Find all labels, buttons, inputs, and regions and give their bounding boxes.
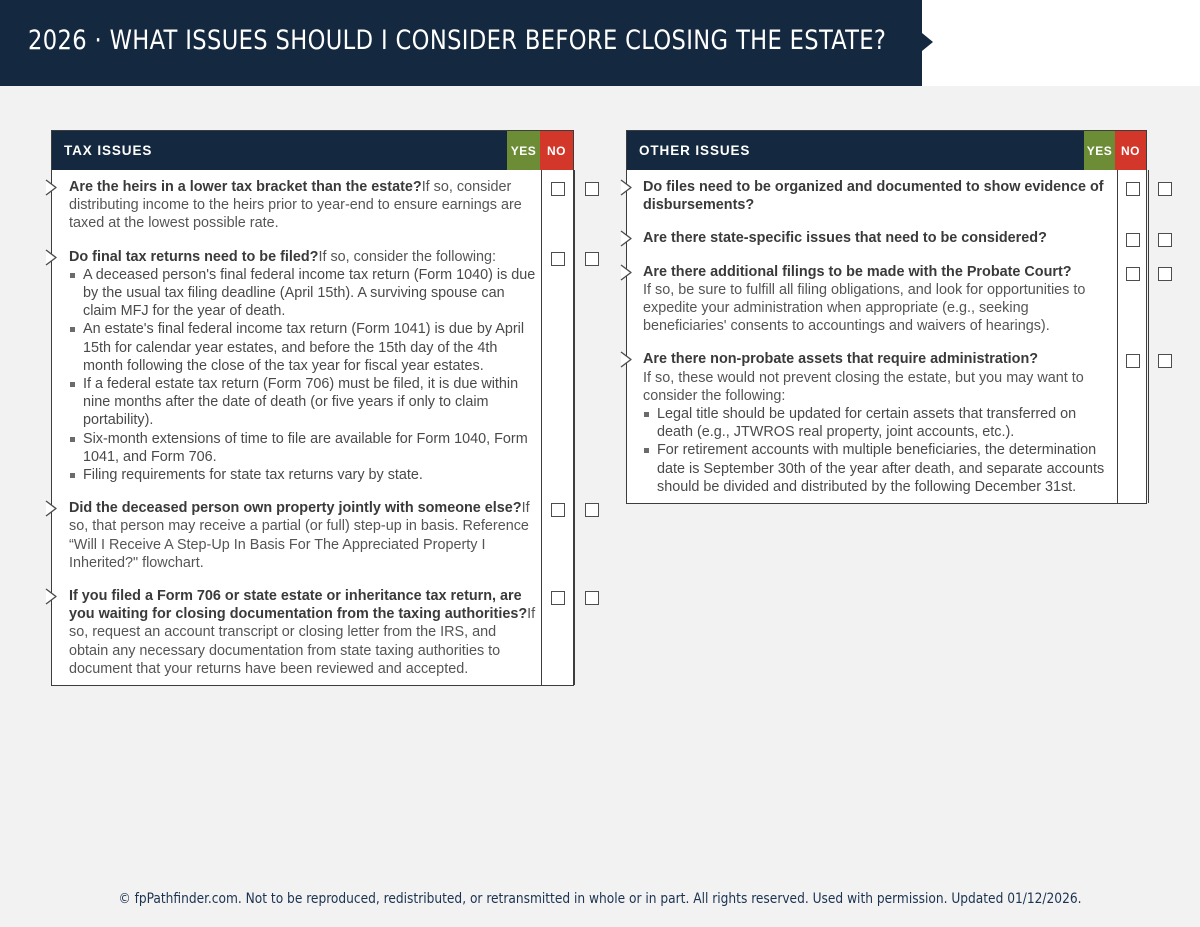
tax-issues-table: TAX ISSUES YES NO Are the heirs in a low… [51,130,574,686]
chevron-right-icon [620,179,633,196]
no-checkbox[interactable] [585,591,599,605]
row-content: If you filed a Form 706 or state estate … [52,579,542,685]
row-question: If you filed a Form 706 or state estate … [69,588,527,622]
no-checkbox[interactable] [585,503,599,517]
yes-checkbox[interactable] [1126,354,1140,368]
tax-table-header: TAX ISSUES YES NO [52,131,573,170]
no-checkbox[interactable] [1158,354,1172,368]
header-arrow-icon [922,33,933,51]
list-item: Six-month extensions of time to file are… [69,430,539,466]
yes-checkbox[interactable] [1126,182,1140,196]
no-checkbox-cell [1149,221,1180,254]
chevron-right-icon [45,179,58,196]
no-checkbox-cell [1149,170,1180,221]
no-checkbox-cell [575,240,608,492]
row-content: Are there non-probate assets that requir… [627,342,1118,503]
no-checkbox-cell [1149,255,1180,343]
footer-text: © fpPathfinder.com. Not to be reproduced… [118,891,1081,907]
yes-checkbox[interactable] [551,182,565,196]
list-item: Legal title should be updated for certai… [643,405,1115,441]
chevron-right-icon [45,588,58,605]
tax-table-title: TAX ISSUES [52,131,507,170]
yes-checkbox-cell [1118,221,1149,254]
row-question: Are there additional filings to be made … [643,264,1072,280]
other-table-no-header: NO [1115,131,1146,170]
tax-table-yes-header: YES [507,131,540,170]
chevron-right-icon [45,249,58,266]
yes-checkbox-cell [1118,342,1149,503]
no-checkbox[interactable] [1158,182,1172,196]
table-row: Are there additional filings to be made … [627,255,1146,343]
row-bullet-list: Legal title should be updated for certai… [643,405,1115,496]
yes-checkbox-cell [542,579,575,685]
table-row: Do final tax returns need to be filed?If… [52,240,573,492]
list-item: Filing requirements for state tax return… [69,466,539,484]
chevron-right-icon [620,264,633,281]
yes-checkbox[interactable] [551,591,565,605]
other-table-yes-header: YES [1084,131,1115,170]
row-question: Do files need to be organized and docume… [643,179,1104,213]
yes-checkbox-cell [542,170,575,240]
no-checkbox[interactable] [1158,233,1172,247]
row-answer: If so, be sure to fulfill all filing obl… [643,282,1085,334]
chevron-right-icon [620,351,633,368]
list-item: For retirement accounts with multiple be… [643,441,1115,496]
other-issues-table: OTHER ISSUES YES NO Do files need to be … [626,130,1147,504]
row-answer: If so, consider the following: [318,249,496,265]
row-content: Do final tax returns need to be filed?If… [52,240,542,492]
row-content: Are the heirs in a lower tax bracket tha… [52,170,542,240]
other-table-header: OTHER ISSUES YES NO [627,131,1146,170]
page-title: 2026 · WHAT ISSUES SHOULD I CONSIDER BEF… [28,25,886,56]
table-row: Do files need to be organized and docume… [627,170,1146,221]
yes-checkbox-cell [1118,255,1149,343]
yes-checkbox-cell [542,240,575,492]
row-answer: If so, these would not prevent closing t… [643,370,1084,404]
yes-checkbox[interactable] [1126,233,1140,247]
no-checkbox-cell [1149,342,1180,503]
tax-table-no-header: NO [540,131,573,170]
table-row: Are there non-probate assets that requir… [627,342,1146,503]
no-checkbox-cell [575,579,608,685]
yes-checkbox-cell [1118,170,1149,221]
list-item: An estate's final federal income tax ret… [69,320,539,375]
row-question: Are there state-specific issues that nee… [643,230,1047,246]
row-question: Are there non-probate assets that requir… [643,351,1038,367]
tax-table-body: Are the heirs in a lower tax bracket tha… [52,170,573,685]
yes-checkbox[interactable] [551,503,565,517]
no-checkbox-cell [575,491,608,579]
yes-checkbox-cell [542,491,575,579]
chevron-right-icon [45,500,58,517]
list-item: If a federal estate tax return (Form 706… [69,375,539,430]
no-checkbox[interactable] [1158,267,1172,281]
table-row: Are the heirs in a lower tax bracket tha… [52,170,573,240]
yes-checkbox[interactable] [1126,267,1140,281]
yes-checkbox[interactable] [551,252,565,266]
footer: © fpPathfinder.com. Not to be reproduced… [18,871,1182,927]
table-row: Did the deceased person own property joi… [52,491,573,579]
no-checkbox-cell [575,170,608,240]
header-background-right [922,0,1200,86]
row-question: Did the deceased person own property joi… [69,500,522,516]
table-row: If you filed a Form 706 or state estate … [52,579,573,685]
row-content: Are there additional filings to be made … [627,255,1118,343]
row-question: Do final tax returns need to be filed? [69,249,318,265]
chevron-right-icon [620,230,633,247]
other-table-body: Do files need to be organized and docume… [627,170,1146,503]
row-question: Are the heirs in a lower tax bracket tha… [69,179,422,195]
no-checkbox[interactable] [585,252,599,266]
other-table-title: OTHER ISSUES [627,131,1084,170]
row-bullet-list: A deceased person's final federal income… [69,266,539,484]
row-content: Do files need to be organized and docume… [627,170,1118,221]
list-item: A deceased person's final federal income… [69,266,539,321]
table-row: Are there state-specific issues that nee… [627,221,1146,254]
no-checkbox[interactable] [585,182,599,196]
row-content: Are there state-specific issues that nee… [627,221,1118,254]
header-bar: 2026 · WHAT ISSUES SHOULD I CONSIDER BEF… [0,0,922,86]
row-content: Did the deceased person own property joi… [52,491,542,579]
